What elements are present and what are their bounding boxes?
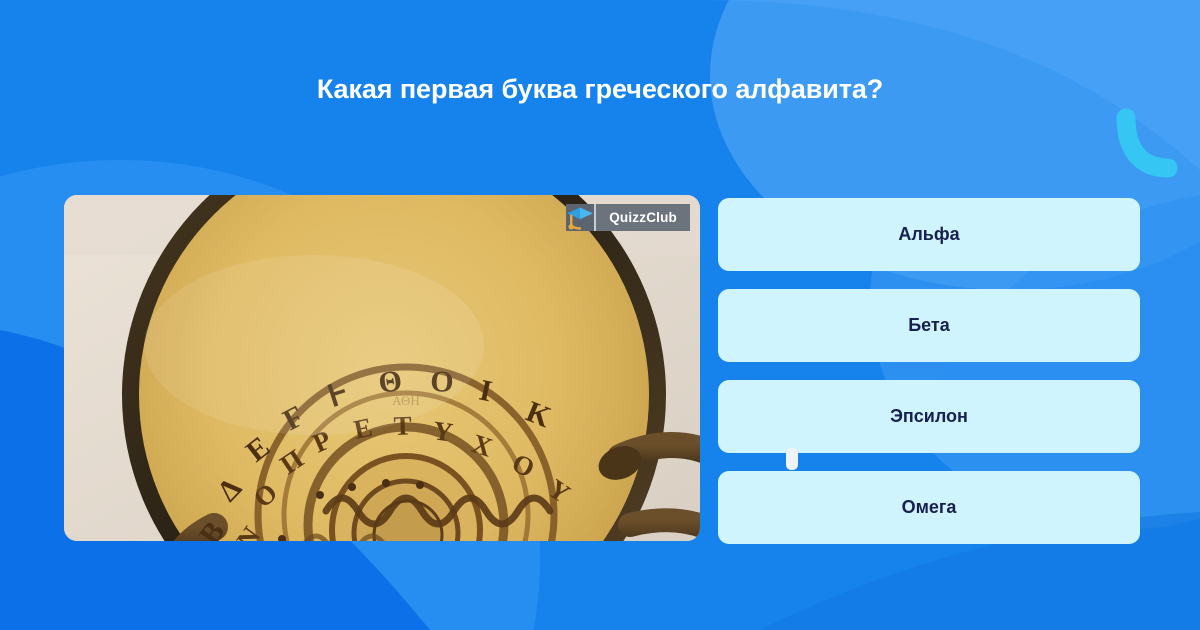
greek-kylix-photo: ΑΘΗ Α Β Δ Ε Ϝ Ͱ Θ Ο Ι Κ Μ Ν: [64, 195, 700, 541]
page-title: Какая первая буква греческого алфавита?: [0, 72, 1200, 106]
answer-option-1[interactable]: Альфа: [718, 198, 1140, 271]
answer-list: Альфа Бета Эпсилон Омега: [718, 198, 1140, 544]
answer-label: Бета: [908, 315, 950, 336]
graduation-cap-icon: [566, 204, 596, 231]
answer-label: Эпсилон: [890, 406, 968, 427]
answer-label: Альфа: [898, 224, 959, 245]
answer-option-3[interactable]: Эпсилон: [718, 380, 1140, 453]
question-image: ΑΘΗ Α Β Δ Ε Ϝ Ͱ Θ Ο Ι Κ Μ Ν: [64, 195, 700, 541]
answer-option-2[interactable]: Бета: [718, 289, 1140, 362]
white-notch-marker: [786, 448, 798, 470]
svg-text:Υ: Υ: [431, 415, 454, 447]
quiz-card: Какая первая буква греческого алфавита?: [0, 0, 1200, 630]
watermark-brand: QuizzClub: [596, 204, 690, 231]
watermark-badge: QuizzClub: [566, 204, 690, 231]
answer-option-4[interactable]: Омега: [718, 471, 1140, 544]
answer-label: Омега: [902, 497, 957, 518]
